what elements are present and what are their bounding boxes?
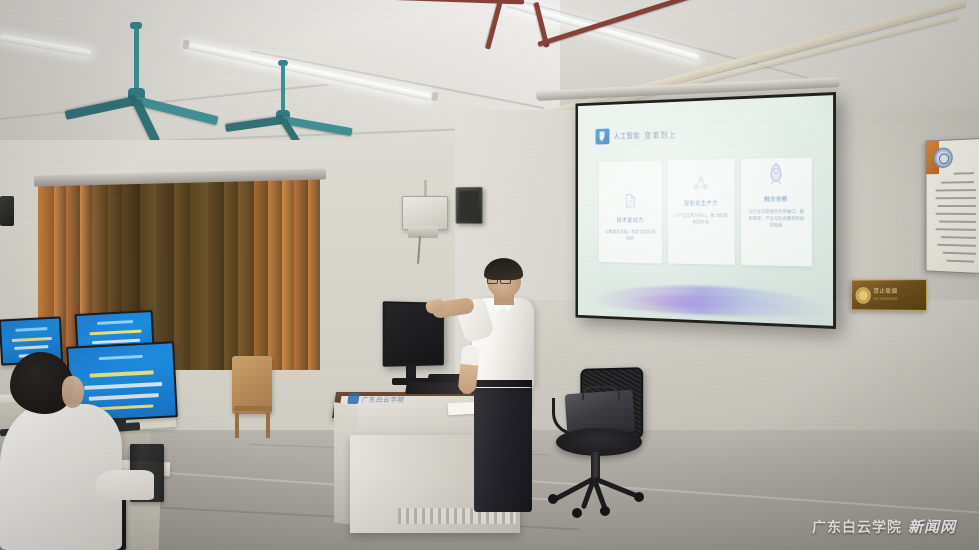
poster-text-line — [935, 189, 976, 191]
curtain-pleat — [308, 178, 320, 370]
poster-text-line — [943, 252, 977, 255]
screen-text-line — [97, 320, 133, 324]
poster-text-line — [937, 244, 976, 247]
curtain-pleat — [208, 178, 224, 370]
presenter-legs — [474, 382, 532, 512]
screen-text-line — [84, 382, 162, 390]
university-logo-icon — [347, 393, 360, 404]
projection-screen: 人工智能 变革到上 技术驱动力 以数据为基础，构建 智能应用场景 — [576, 92, 836, 329]
poster-text-line — [935, 213, 976, 215]
projection-screen-surface: 人工智能 变革到上 技术驱动力 以数据为基础，构建 智能应用场景 — [578, 95, 833, 326]
seated-student-face — [62, 376, 84, 408]
wall-mounted-speaker — [0, 196, 14, 226]
fan-downrod — [134, 28, 139, 90]
poster-text-line — [935, 228, 976, 231]
poster-text-line — [954, 172, 975, 174]
projector-body — [408, 226, 438, 238]
office-chair-gas-cylinder — [591, 452, 600, 478]
curtain-pleat — [190, 178, 208, 370]
curtain-pleat — [294, 178, 308, 370]
office-chair-caster — [548, 494, 558, 504]
fan-downrod — [281, 64, 285, 112]
curtain-pleat — [254, 178, 268, 370]
curtain-pleat — [174, 178, 190, 370]
no-smoking-plaque: 禁止吸烟 NO SMOKING — [851, 279, 927, 311]
curtain-pleat — [268, 178, 282, 370]
curtain-pleat — [238, 178, 254, 370]
gold-seal-emblem-icon — [856, 287, 871, 303]
projector-glow — [578, 95, 833, 326]
chair-seat-rail — [234, 406, 272, 411]
podium-logo-text: 广东白云学院 — [361, 394, 405, 404]
wall-mounted-speaker — [456, 187, 483, 224]
office-chair-caster — [600, 506, 610, 516]
watermark-site: 新闻网 — [908, 516, 956, 537]
poster-text-line — [937, 205, 976, 207]
poster-text-line — [946, 260, 974, 263]
podium-branding: 广东白云学院 — [347, 391, 407, 406]
screen-text-line — [99, 355, 143, 360]
screen-text-line — [90, 330, 142, 335]
seated-student-arm — [96, 470, 154, 500]
bag-handle — [582, 386, 620, 400]
watermark-institution: 广东白云学院 — [812, 517, 902, 537]
curtain-pleat — [282, 178, 294, 370]
plaque-subtext: NO SMOKING — [874, 297, 898, 301]
chair-leg — [266, 412, 270, 438]
screen-text-line — [14, 345, 48, 349]
curtain-pleat — [224, 178, 238, 370]
screen-text-line — [15, 327, 47, 331]
poster-text-line — [939, 221, 976, 223]
office-chair-caster — [572, 508, 582, 518]
framed-notice-poster — [926, 138, 979, 274]
chair-leg — [235, 412, 239, 438]
screen-text-line — [90, 370, 154, 377]
screen-text-line — [89, 393, 159, 400]
poster-text-line — [941, 181, 974, 184]
presenter-glasses-icon — [487, 275, 511, 283]
poster-text-line — [935, 197, 976, 199]
screen-text-line — [12, 337, 52, 342]
ceiling-projector-bracket — [402, 196, 448, 230]
poster-text-line — [941, 236, 976, 239]
official-seal-emblem-icon — [934, 147, 953, 168]
plaque-text: 禁止吸烟 — [874, 289, 898, 296]
classroom-photo: 人工智能 变革到上 技术驱动力 以数据为基础，构建 智能应用场景 — [0, 0, 979, 550]
watermark: 广东白云学院 新闻网 — [812, 516, 956, 537]
office-chair-caster — [634, 492, 644, 502]
presenter-belt — [474, 380, 532, 387]
